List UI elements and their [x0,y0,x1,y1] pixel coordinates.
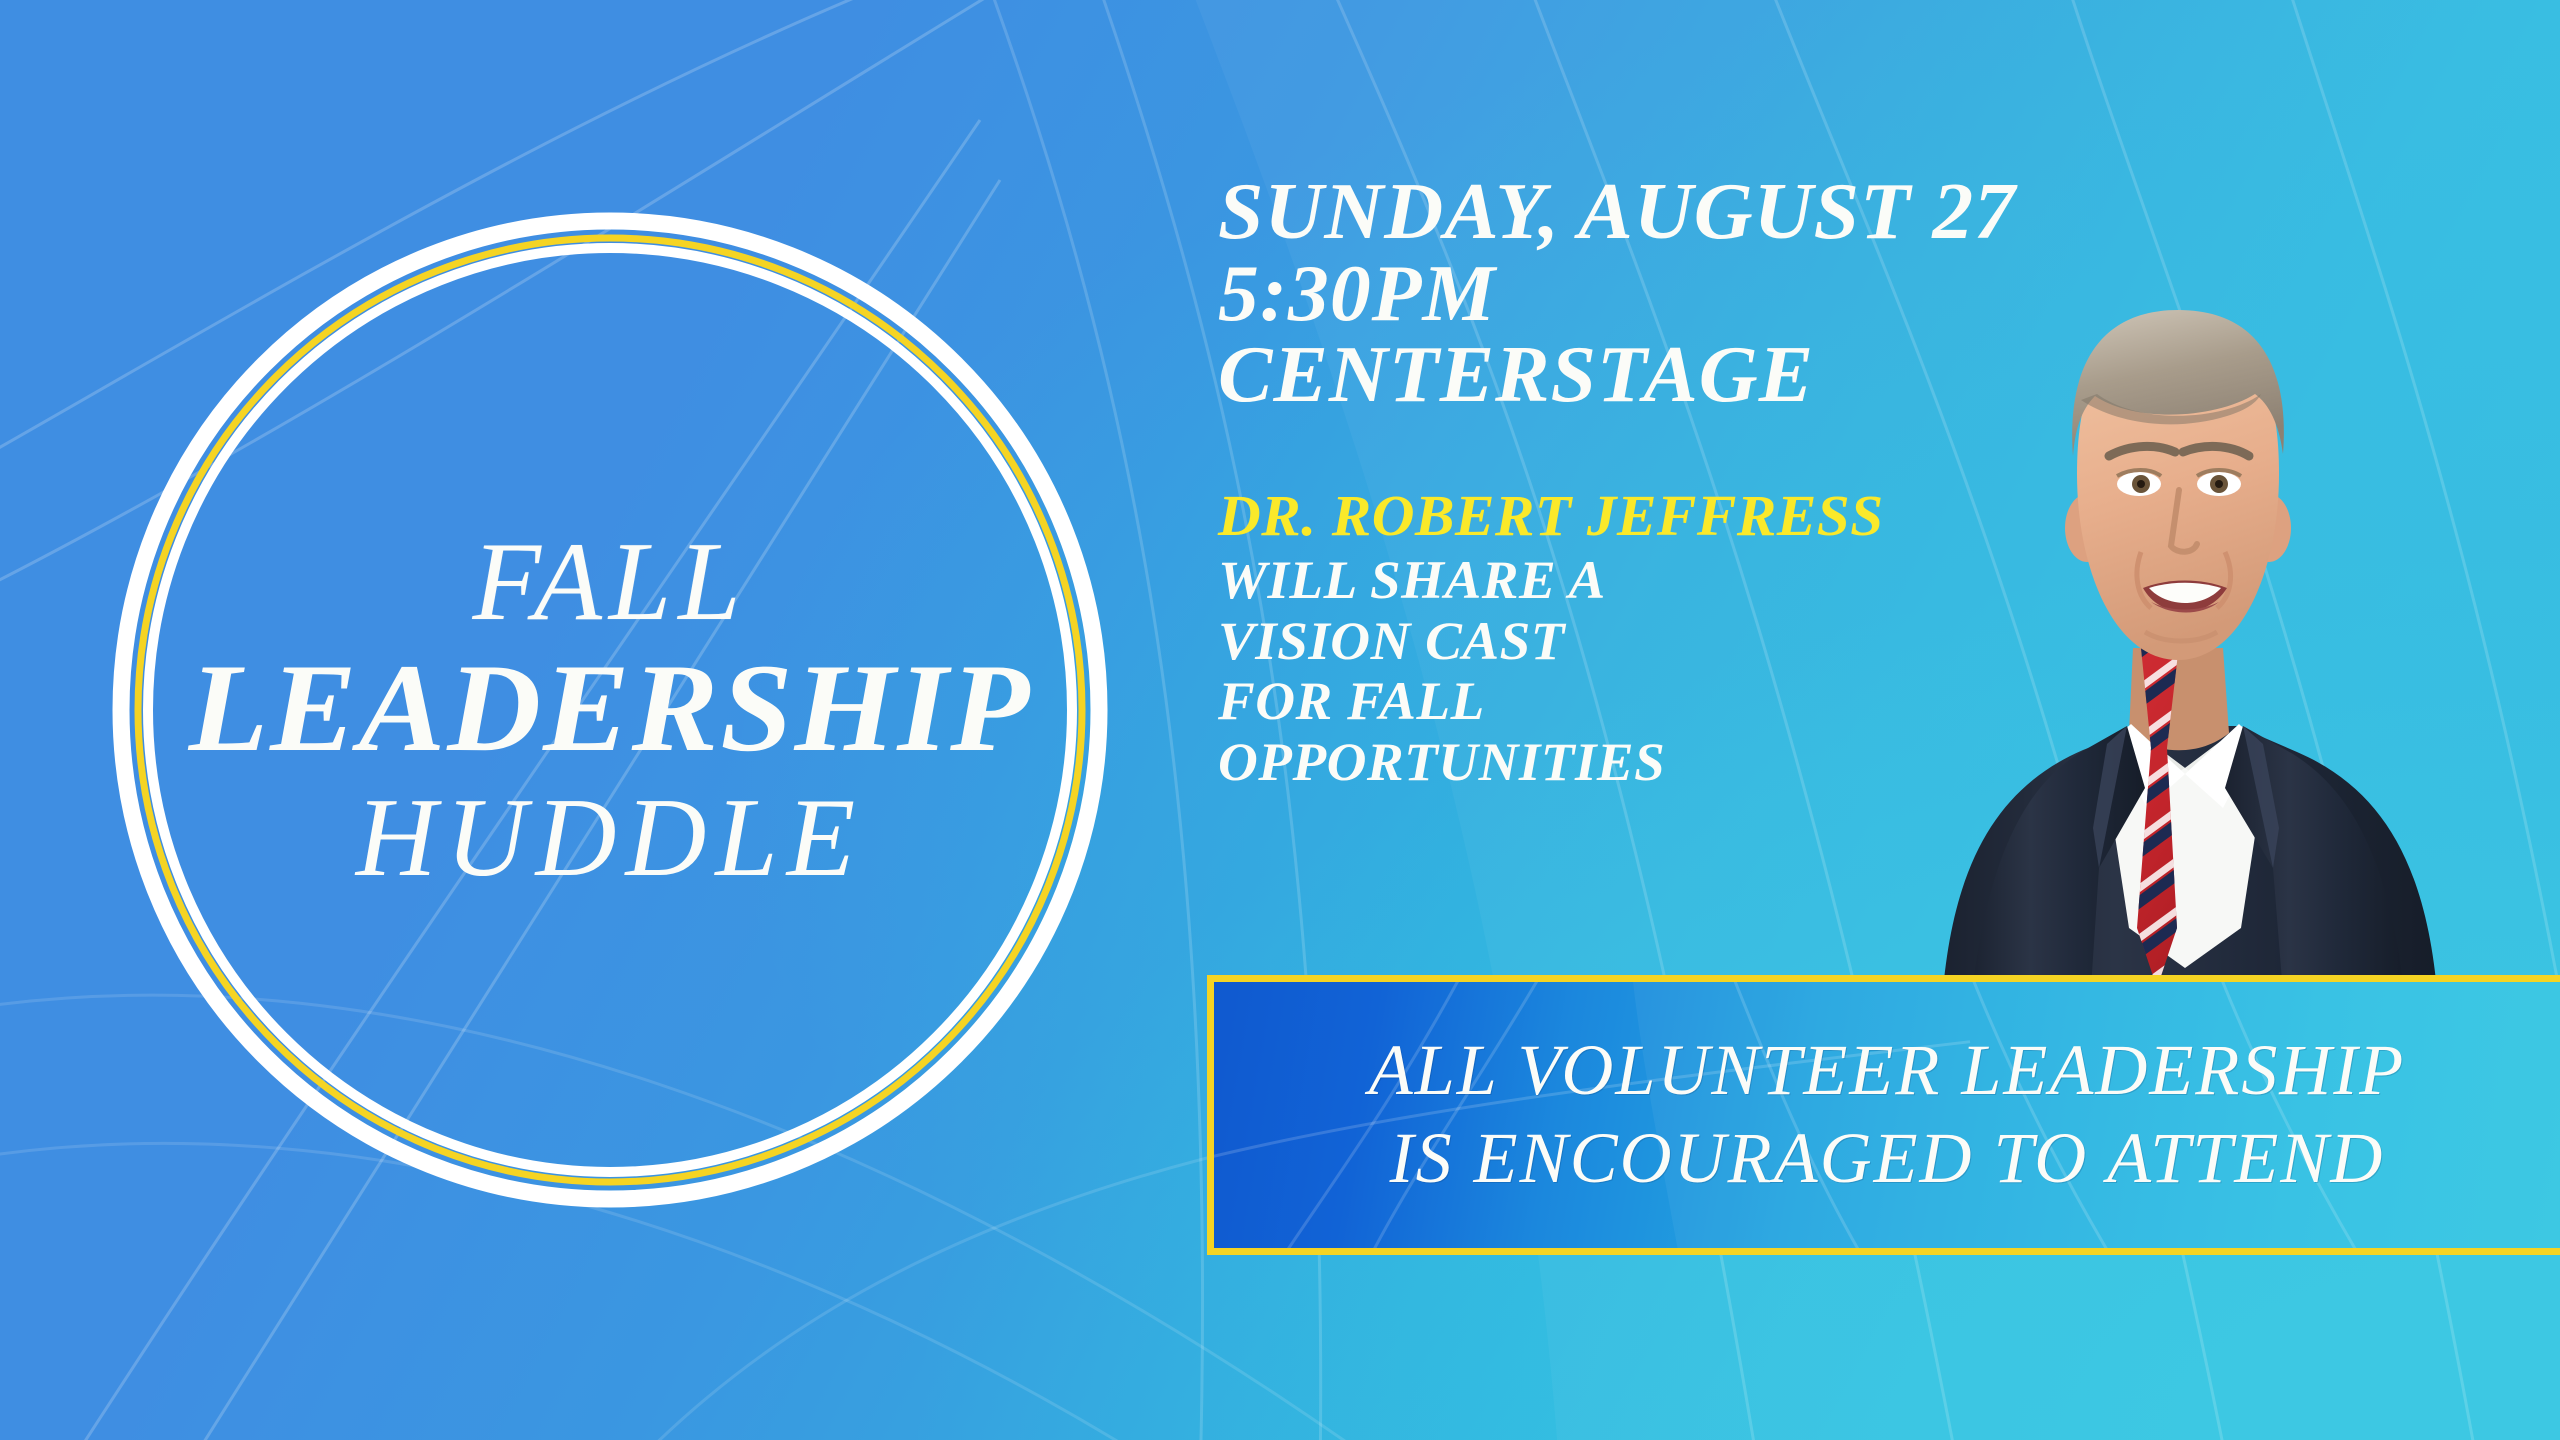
circle-badge: FALL LEADERSHIP HUDDLE [103,203,1117,1217]
badge-title-line-3: HUDDLE [356,782,864,894]
banner-line-2: IS ENCOURAGED TO ATTEND [1390,1115,2385,1203]
speaker-portrait [1845,228,2465,1018]
badge-title-line-2: LEADERSHIP [189,646,1032,772]
badge-title-group: FALL LEADERSHIP HUDDLE [103,203,1117,1217]
speaker-portrait-illustration [1845,228,2465,1018]
promo-graphic: FALL LEADERSHIP HUDDLE SUNDAY, AUGUST 27… [0,0,2560,1440]
banner-line-1: ALL VOLUNTEER LEADERSHIP [1369,1027,2406,1115]
attendance-banner: ALL VOLUNTEER LEADERSHIP IS ENCOURAGED T… [1207,975,2560,1255]
badge-title-line-1: FALL [473,526,748,638]
